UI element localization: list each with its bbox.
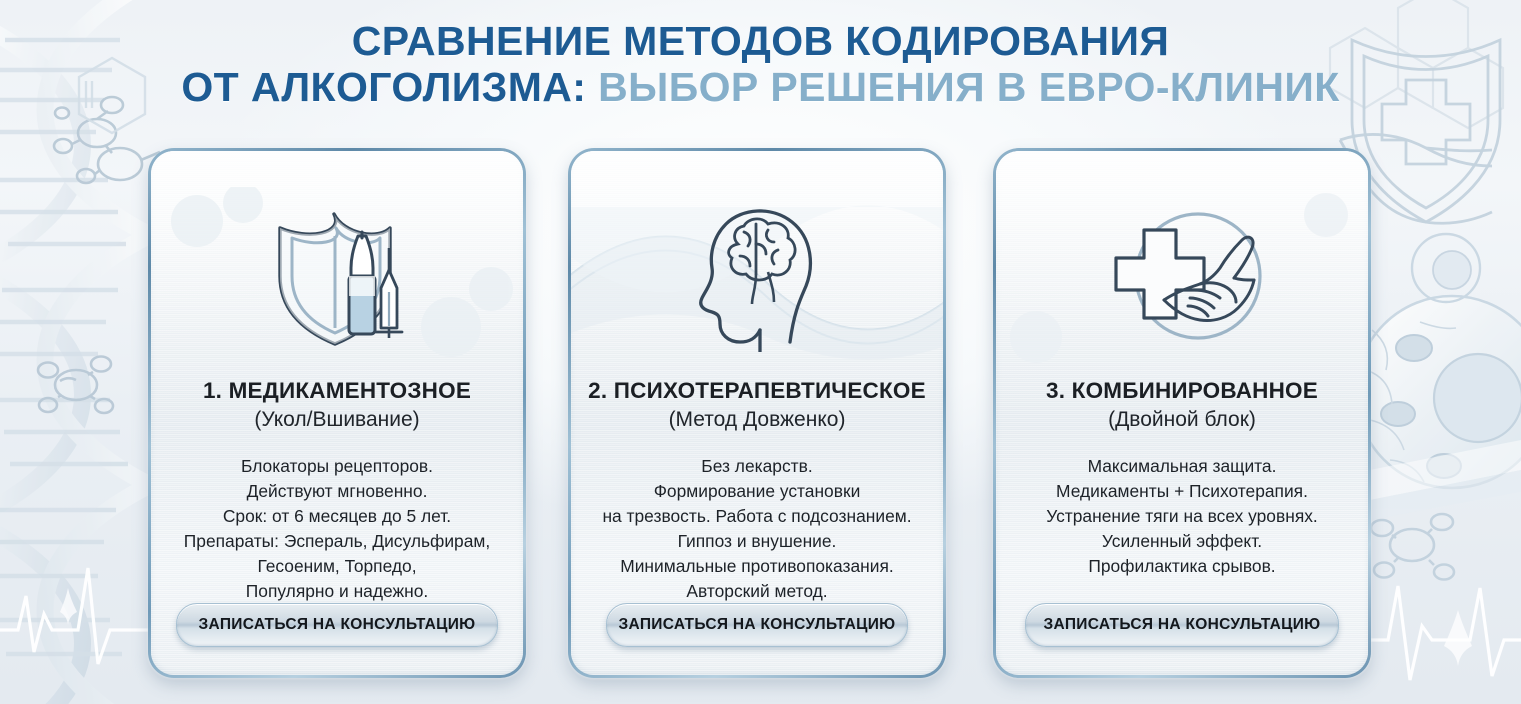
card-body-line: Усиленный эффект. xyxy=(1004,529,1360,554)
card-body-line: Максимальная защита. xyxy=(1004,454,1360,479)
head-brain-icon xyxy=(694,200,820,352)
card-icon-zone-3 xyxy=(996,187,1368,365)
card-subtitle-2: (Метод Довженко) xyxy=(581,407,933,432)
card-body-line: Гиппоз и внушение. xyxy=(579,529,935,554)
consultation-button-3[interactable]: ЗАПИСАТЬСЯ НА КОНСУЛЬТАЦИЮ xyxy=(1025,603,1339,647)
card-body-line: Блокаторы рецепторов. xyxy=(159,454,515,479)
method-cards-container: 1. МЕДИКАМЕНТОЗНОЕ (Укол/Вшивание) Блока… xyxy=(0,148,1521,680)
title-line-1: СРАВНЕНИЕ МЕТОДОВ КОДИРОВАНИЯ xyxy=(0,18,1521,64)
method-card-medication[interactable]: 1. МЕДИКАМЕНТОЗНОЕ (Укол/Вшивание) Блока… xyxy=(148,148,526,678)
card-title-3: 3. КОМБИНИРОВАННОЕ xyxy=(1006,378,1358,404)
shield-ampoule-syringe-icon xyxy=(268,202,406,350)
card-body-1: Блокаторы рецепторов. Действуют мгновенн… xyxy=(159,454,515,604)
card-heading-1: 1. МЕДИКАМЕНТОЗНОЕ (Укол/Вшивание) xyxy=(161,378,513,432)
card-body-line: Действуют мгновенно. xyxy=(159,479,515,504)
card-body-line: Минимальные противопоказания. xyxy=(579,554,935,579)
card-body-line: Гесоеним, Торпедо, xyxy=(159,554,515,579)
card-subtitle-1: (Укол/Вшивание) xyxy=(161,407,513,432)
card-subtitle-3: (Двойной блок) xyxy=(1006,407,1358,432)
card-title-1: 1. МЕДИКАМЕНТОЗНОЕ xyxy=(161,378,513,404)
consultation-button-1[interactable]: ЗАПИСАТЬСЯ НА КОНСУЛЬТАЦИЮ xyxy=(176,603,498,647)
card-body-line: на трезвость. Работа с подсознанием. xyxy=(579,504,935,529)
card-body-line: Авторский метод. xyxy=(579,579,935,604)
card-body-line: Медикаменты + Психотерапия. xyxy=(1004,479,1360,504)
card-body-line: Профилактика срывов. xyxy=(1004,554,1360,579)
consultation-button-2[interactable]: ЗАПИСАТЬСЯ НА КОНСУЛЬТАЦИЮ xyxy=(606,603,908,647)
card-body-line: Формирование установки xyxy=(579,479,935,504)
cross-helping-hands-icon xyxy=(1102,208,1262,344)
card-icon-zone-2 xyxy=(571,187,943,365)
card-icon-zone-1 xyxy=(151,187,523,365)
card-body-line: Срок: от 6 месяцев до 5 лет. xyxy=(159,504,515,529)
card-heading-3: 3. КОМБИНИРОВАННОЕ (Двойной блок) xyxy=(1006,378,1358,432)
title-line-2-light: ВЫБОР РЕШЕНИЯ В ЕВРО-КЛИНИК xyxy=(598,64,1340,110)
method-card-psychotherapy[interactable]: 2. ПСИХОТЕРАПЕВТИЧЕСКОЕ (Метод Довженко)… xyxy=(568,148,946,678)
card-body-3: Максимальная защита. Медикаменты + Психо… xyxy=(1004,454,1360,579)
infographic-canvas: СРАВНЕНИЕ МЕТОДОВ КОДИРОВАНИЯ ОТ АЛКОГОЛ… xyxy=(0,0,1521,704)
card-body-line: Устранение тяги на всех уровнях. xyxy=(1004,504,1360,529)
method-card-combined[interactable]: 3. КОМБИНИРОВАННОЕ (Двойной блок) Максим… xyxy=(993,148,1371,678)
card-body-2: Без лекарств. Формирование установки на … xyxy=(579,454,935,604)
card-title-2: 2. ПСИХОТЕРАПЕВТИЧЕСКОЕ xyxy=(581,378,933,404)
card-body-line: Популярно и надежно. xyxy=(159,579,515,604)
page-title: СРАВНЕНИЕ МЕТОДОВ КОДИРОВАНИЯ ОТ АЛКОГОЛ… xyxy=(0,18,1521,111)
card-body-line: Препараты: Эспераль, Дисульфирам, xyxy=(159,529,515,554)
title-line-2-dark: ОТ АЛКОГОЛИЗМА: xyxy=(181,64,586,110)
card-body-line: Без лекарств. xyxy=(579,454,935,479)
title-line-2: ОТ АЛКОГОЛИЗМА: ВЫБОР РЕШЕНИЯ В ЕВРО-КЛИ… xyxy=(0,64,1521,110)
card-heading-2: 2. ПСИХОТЕРАПЕВТИЧЕСКОЕ (Метод Довженко) xyxy=(581,378,933,432)
